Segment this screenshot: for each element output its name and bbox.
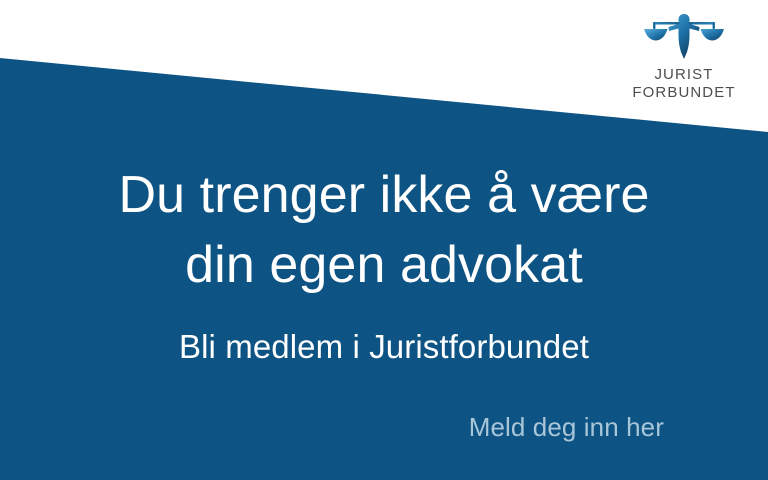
subtitle: Bli medlem i Juristforbundet	[0, 326, 768, 368]
logo-word-jurist: JURIST	[632, 66, 735, 84]
logo-word-forbundet: FORBUNDET	[632, 84, 735, 102]
logo-wordmark: JURIST FORBUNDET	[632, 66, 735, 101]
headline-line-1: Du trenger ikke å være	[0, 160, 768, 230]
scales-of-justice-icon	[642, 12, 726, 60]
join-now-link[interactable]: Meld deg inn her	[0, 410, 768, 444]
advertisement-banner: JURIST FORBUNDET Du trenger ikke å være …	[0, 0, 768, 480]
headline: Du trenger ikke å være din egen advokat	[0, 160, 768, 300]
juristforbundet-logo[interactable]: JURIST FORBUNDET	[618, 12, 750, 101]
headline-line-2: din egen advokat	[0, 230, 768, 300]
